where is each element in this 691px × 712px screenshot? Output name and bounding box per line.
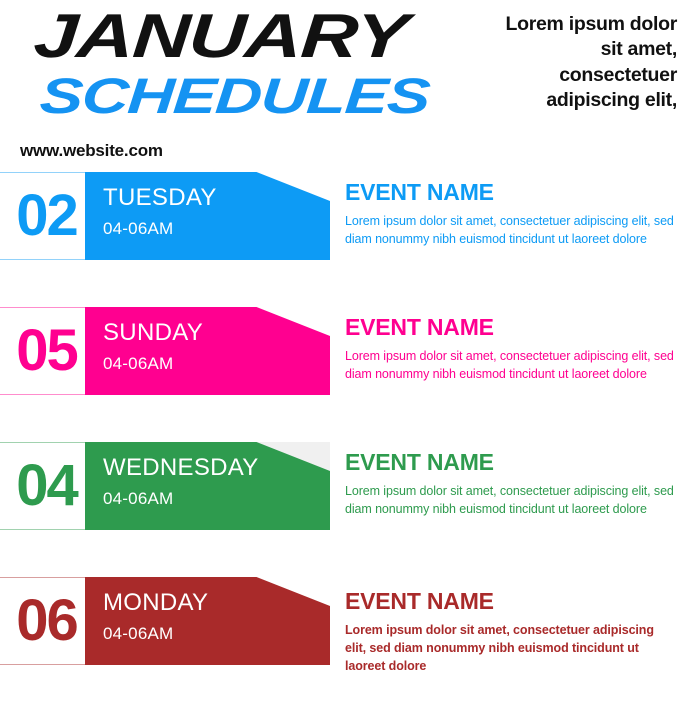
event-description: Lorem ipsum dolor sit amet, consectetuer… <box>345 622 665 675</box>
schedule-row-left: 06MONDAY04-06AM <box>0 577 330 665</box>
day-number: 02 <box>8 172 85 260</box>
poster-title-block: JANUARY SCHEDULES <box>10 6 510 119</box>
event-description: Lorem ipsum dolor sit amet, consectetuer… <box>345 348 681 384</box>
day-number: 05 <box>8 307 85 395</box>
time-range-label: 04-06AM <box>103 219 173 239</box>
day-name-label: MONDAY <box>103 589 208 617</box>
schedule-row-right: EVENT NAMELorem ipsum dolor sit amet, co… <box>345 315 681 384</box>
event-description: Lorem ipsum dolor sit amet, consectetuer… <box>345 483 681 519</box>
schedule-list: 02TUESDAY04-06AMEVENT NAMELorem ipsum do… <box>0 172 691 712</box>
event-description: Lorem ipsum dolor sit amet, consectetuer… <box>345 213 681 249</box>
schedule-row-left: 02TUESDAY04-06AM <box>0 172 330 260</box>
schedule-row-right: EVENT NAMELorem ipsum dolor sit amet, co… <box>345 589 665 676</box>
event-name-heading: EVENT NAME <box>345 589 665 614</box>
event-name-heading: EVENT NAME <box>345 315 681 340</box>
schedule-row[interactable]: 05SUNDAY04-06AMEVENT NAMELorem ipsum dol… <box>0 307 691 442</box>
website-url[interactable]: www.website.com <box>20 141 163 161</box>
time-range-label: 04-06AM <box>103 354 173 374</box>
day-name-label: SUNDAY <box>103 319 203 347</box>
day-number: 06 <box>8 577 85 665</box>
time-range-label: 04-06AM <box>103 624 173 644</box>
schedule-row[interactable]: 02TUESDAY04-06AMEVENT NAMELorem ipsum do… <box>0 172 691 307</box>
event-name-heading: EVENT NAME <box>345 450 681 475</box>
schedule-row[interactable]: 06MONDAY04-06AMEVENT NAMELorem ipsum dol… <box>0 577 691 712</box>
schedule-row-left: 05SUNDAY04-06AM <box>0 307 330 395</box>
event-name-heading: EVENT NAME <box>345 180 681 205</box>
schedule-row-right: EVENT NAMELorem ipsum dolor sit amet, co… <box>345 180 681 249</box>
day-name-label: TUESDAY <box>103 184 217 212</box>
poster-header: JANUARY SCHEDULES www.website.com Lorem … <box>0 0 691 172</box>
day-number: 04 <box>8 442 85 530</box>
schedule-row-right: EVENT NAMELorem ipsum dolor sit amet, co… <box>345 450 681 519</box>
schedule-row[interactable]: 04WEDNESDAY04-06AMEVENT NAMELorem ipsum … <box>0 442 691 577</box>
schedule-row-left: 04WEDNESDAY04-06AM <box>0 442 330 530</box>
time-range-label: 04-06AM <box>103 489 173 509</box>
day-name-label: WEDNESDAY <box>103 454 259 482</box>
header-blurb-text: Lorem ipsum dolor sit amet, consectetuer… <box>499 12 677 113</box>
